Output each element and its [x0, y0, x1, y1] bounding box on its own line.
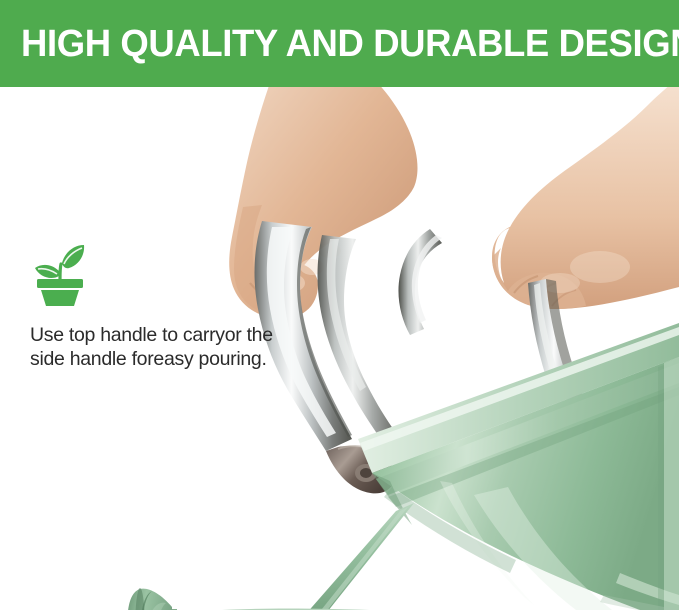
product-feature-image: HIGH QUALITY AND DURABLE DESIGN [0, 0, 679, 610]
caption-line-1: Use top handle to carryor the [30, 323, 298, 347]
caption-line-2: side handle foreasy pouring. [30, 347, 298, 371]
banner-title: HIGH QUALITY AND DURABLE DESIGN [21, 22, 640, 67]
header-banner: HIGH QUALITY AND DURABLE DESIGN [0, 0, 679, 87]
potted-plant-icon [33, 243, 87, 307]
feature-callout: Use top handle to carryor the side handl… [30, 243, 298, 371]
feature-caption: Use top handle to carryor the side handl… [30, 323, 298, 371]
